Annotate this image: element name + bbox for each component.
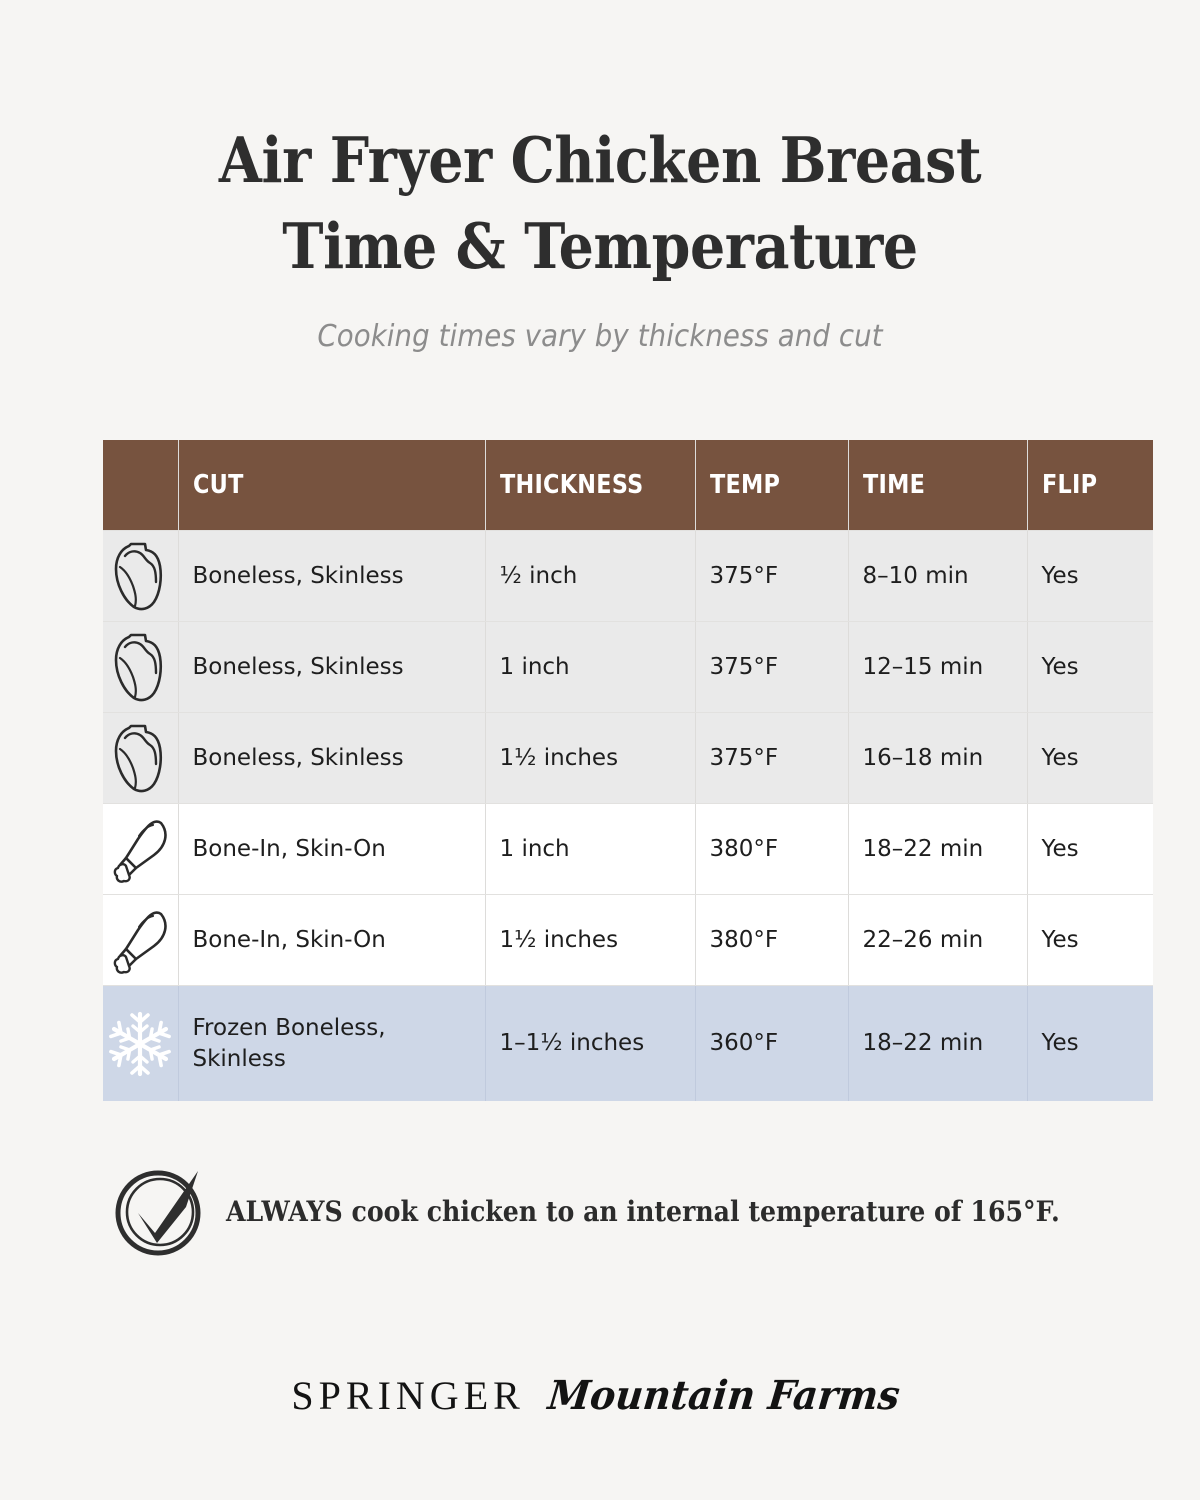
table-row: Bone-In, Skin-On1½ inches380°F22–26 minY… — [103, 895, 1153, 986]
cell-thickness-label: 1–1½ inches — [500, 1028, 695, 1058]
page-title-line-1: Air Fryer Chicken Breast — [72, 118, 1128, 204]
page-title: Air Fryer Chicken Breast Time & Temperat… — [72, 118, 1128, 289]
column-header-cut-label: CUT — [193, 470, 244, 500]
table-row: Boneless, Skinless1 inch375°F12–15 minYe… — [103, 622, 1153, 713]
row-icon-cell — [103, 804, 178, 895]
cell-temp: 380°F — [695, 895, 848, 986]
chicken-breast-icon — [111, 774, 169, 800]
column-header-flip-label: FLIP — [1042, 470, 1097, 500]
column-header-thickness-label: THICKNESS — [500, 470, 644, 500]
check-seal-icon — [112, 1163, 208, 1259]
table-header-row: CUT THICKNESS TEMP TIME FLIP — [103, 440, 1153, 531]
cell-flip: Yes — [1027, 713, 1153, 804]
cell-time: 12–15 min — [848, 622, 1027, 713]
snowflake-icon — [106, 1058, 174, 1084]
cell-thickness: 1 inch — [485, 804, 695, 895]
cell-flip: Yes — [1027, 531, 1153, 622]
cooking-time-table-container: CUT THICKNESS TEMP TIME FLIP Boneless, S… — [103, 440, 1153, 1101]
cell-flip-label: Yes — [1042, 652, 1154, 682]
cell-temp-label: 380°F — [710, 834, 848, 864]
cell-cut-label: Bone-In, Skin-On — [193, 925, 485, 955]
cell-thickness: ½ inch — [485, 531, 695, 622]
cell-temp: 360°F — [695, 986, 848, 1102]
table-row: Frozen Boneless, Skinless1–1½ inches360°… — [103, 986, 1153, 1102]
row-icon-cell — [103, 986, 178, 1102]
column-header-thickness: THICKNESS — [485, 440, 695, 531]
cell-time: 8–10 min — [848, 531, 1027, 622]
cell-time-label: 18–22 min — [863, 1028, 1027, 1058]
row-icon-cell — [103, 531, 178, 622]
cell-thickness-label: 1½ inches — [500, 925, 695, 955]
row-icon-cell — [103, 622, 178, 713]
cell-thickness-label: ½ inch — [500, 561, 695, 591]
column-header-time: TIME — [848, 440, 1027, 531]
cell-time: 18–22 min — [848, 804, 1027, 895]
cell-cut-label: Frozen Boneless, Skinless — [193, 1013, 485, 1074]
column-header-temp-label: TEMP — [710, 470, 780, 500]
cell-flip: Yes — [1027, 895, 1153, 986]
cell-cut: Boneless, Skinless — [178, 531, 485, 622]
cell-flip: Yes — [1027, 622, 1153, 713]
cell-thickness: 1½ inches — [485, 713, 695, 804]
column-header-time-label: TIME — [863, 470, 925, 500]
cell-thickness: 1½ inches — [485, 895, 695, 986]
cell-time-label: 12–15 min — [863, 652, 1027, 682]
drumstick-icon — [109, 865, 171, 891]
cell-cut: Frozen Boneless, Skinless — [178, 986, 485, 1102]
column-header-icon — [103, 440, 178, 531]
cell-temp-label: 375°F — [710, 743, 848, 773]
cell-cut: Bone-In, Skin-On — [178, 895, 485, 986]
cell-time-label: 16–18 min — [863, 743, 1027, 773]
cell-thickness: 1 inch — [485, 622, 695, 713]
cell-thickness: 1–1½ inches — [485, 986, 695, 1102]
cooking-time-table: CUT THICKNESS TEMP TIME FLIP Boneless, S… — [103, 440, 1153, 1101]
column-header-temp: TEMP — [695, 440, 848, 531]
cell-time: 18–22 min — [848, 986, 1027, 1102]
page-subtitle: Cooking times vary by thickness and cut — [48, 319, 1152, 354]
cell-time: 16–18 min — [848, 713, 1027, 804]
cell-flip-label: Yes — [1042, 834, 1154, 864]
chicken-breast-icon — [111, 592, 169, 618]
cell-cut-label: Boneless, Skinless — [193, 652, 485, 682]
brand-script: Mountain Farms — [546, 1372, 902, 1419]
cell-flip-label: Yes — [1042, 1028, 1154, 1058]
cell-cut-label: Boneless, Skinless — [193, 743, 485, 773]
row-icon-cell — [103, 895, 178, 986]
cell-cut: Bone-In, Skin-On — [178, 804, 485, 895]
table-row: Bone-In, Skin-On1 inch380°F18–22 minYes — [103, 804, 1153, 895]
page-title-line-2: Time & Temperature — [72, 204, 1128, 290]
cell-thickness-label: 1 inch — [500, 652, 695, 682]
cell-temp-label: 380°F — [710, 925, 848, 955]
column-header-flip: FLIP — [1027, 440, 1153, 531]
cell-flip-label: Yes — [1042, 743, 1154, 773]
table-row: Boneless, Skinless1½ inches375°F16–18 mi… — [103, 713, 1153, 804]
cell-cut-label: Boneless, Skinless — [193, 561, 485, 591]
cell-temp-label: 375°F — [710, 561, 848, 591]
cell-thickness-label: 1 inch — [500, 834, 695, 864]
safety-callout: ALWAYS cook chicken to an internal tempe… — [112, 1163, 1152, 1259]
cell-flip: Yes — [1027, 804, 1153, 895]
cell-time-label: 8–10 min — [863, 561, 1027, 591]
cell-temp: 380°F — [695, 804, 848, 895]
brand-logo: SPRINGER Mountain Farms — [0, 1372, 1200, 1419]
column-header-cut: CUT — [178, 440, 485, 531]
cell-time-label: 22–26 min — [863, 925, 1027, 955]
cell-temp: 375°F — [695, 622, 848, 713]
cell-time-label: 18–22 min — [863, 834, 1027, 864]
cell-cut: Boneless, Skinless — [178, 622, 485, 713]
page-header: Air Fryer Chicken Breast Time & Temperat… — [0, 0, 1200, 354]
cell-temp: 375°F — [695, 713, 848, 804]
table-row: Boneless, Skinless½ inch375°F8–10 minYes — [103, 531, 1153, 622]
cell-temp-label: 375°F — [710, 652, 848, 682]
cell-time: 22–26 min — [848, 895, 1027, 986]
chicken-breast-icon — [111, 683, 169, 709]
drumstick-icon — [109, 956, 171, 982]
safety-callout-text: ALWAYS cook chicken to an internal tempe… — [226, 1195, 1060, 1228]
cell-cut-label: Bone-In, Skin-On — [193, 834, 485, 864]
table-header: CUT THICKNESS TEMP TIME FLIP — [103, 440, 1153, 531]
row-icon-cell — [103, 713, 178, 804]
cell-flip-label: Yes — [1042, 925, 1154, 955]
cell-cut: Boneless, Skinless — [178, 713, 485, 804]
table-body: Boneless, Skinless½ inch375°F8–10 minYes… — [103, 531, 1153, 1102]
cell-flip-label: Yes — [1042, 561, 1154, 591]
cell-thickness-label: 1½ inches — [500, 743, 695, 773]
cell-temp: 375°F — [695, 531, 848, 622]
cell-flip: Yes — [1027, 986, 1153, 1102]
cell-temp-label: 360°F — [710, 1028, 848, 1058]
brand-wordmark: SPRINGER — [291, 1372, 524, 1419]
